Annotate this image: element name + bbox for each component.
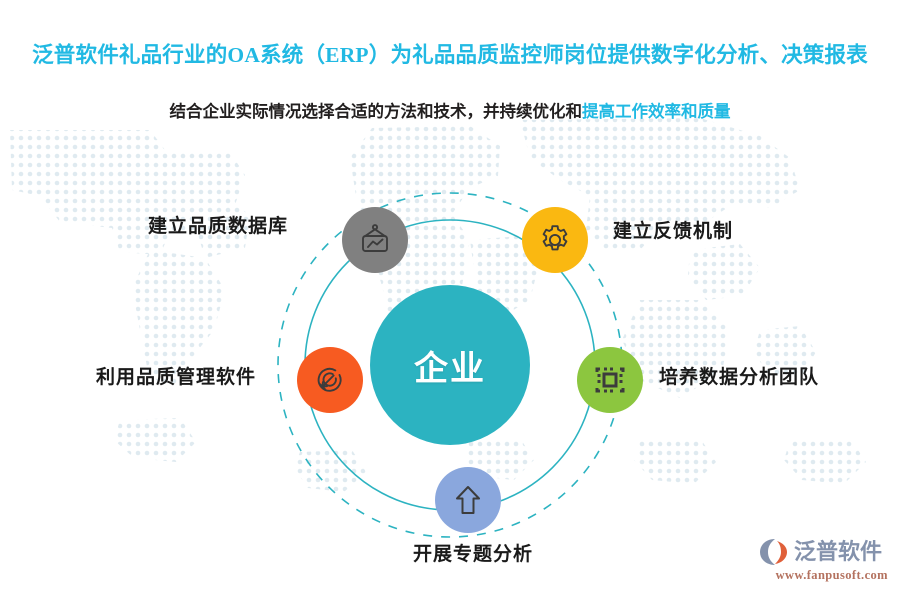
chart-sign-icon	[357, 222, 393, 258]
label-feedback: 建立反馈机制	[613, 216, 733, 243]
subtitle-plain-text: 结合企业实际情况选择合适的方法和技术，并持续优化和	[170, 102, 583, 121]
swoosh-logo-icon	[758, 538, 790, 566]
label-topic-analysis: 开展专题分析	[413, 539, 533, 566]
up-arrow-icon	[451, 483, 485, 517]
page-subtitle: 结合企业实际情况选择合适的方法和技术，并持续优化和提高工作效率和质量	[0, 98, 900, 122]
node-feedback[interactable]	[522, 207, 588, 273]
label-software: 利用品质管理软件	[96, 362, 256, 389]
chip-square-icon	[593, 363, 627, 397]
node-topic-analysis[interactable]	[435, 467, 501, 533]
hub-circle: 企业	[370, 285, 530, 445]
hub-and-spoke-diagram: 企业	[270, 185, 670, 585]
page-title: 泛普软件礼品行业的OA系统（ERP）为礼品品质监控师岗位提供数字化分析、决策报表	[0, 38, 900, 69]
label-database: 建立品质数据库	[148, 211, 288, 238]
brand-logo[interactable]: 泛普软件 www.fanpusoft.com	[758, 538, 888, 588]
node-team[interactable]	[577, 347, 643, 413]
gear-icon	[537, 222, 573, 258]
logo-url: www.fanpusoft.com	[758, 568, 888, 583]
node-software[interactable]	[297, 347, 363, 413]
label-team: 培养数据分析团队	[659, 362, 819, 389]
target-arrow-icon	[313, 363, 347, 397]
node-database[interactable]	[342, 207, 408, 273]
logo-row: 泛普软件	[758, 538, 888, 566]
subtitle-accent-text: 提高工作效率和质量	[582, 102, 731, 121]
slide-canvas: 泛普软件礼品行业的OA系统（ERP）为礼品品质监控师岗位提供数字化分析、决策报表…	[0, 0, 900, 600]
logo-name: 泛普软件	[794, 541, 882, 563]
hub-label: 企业	[414, 341, 486, 390]
